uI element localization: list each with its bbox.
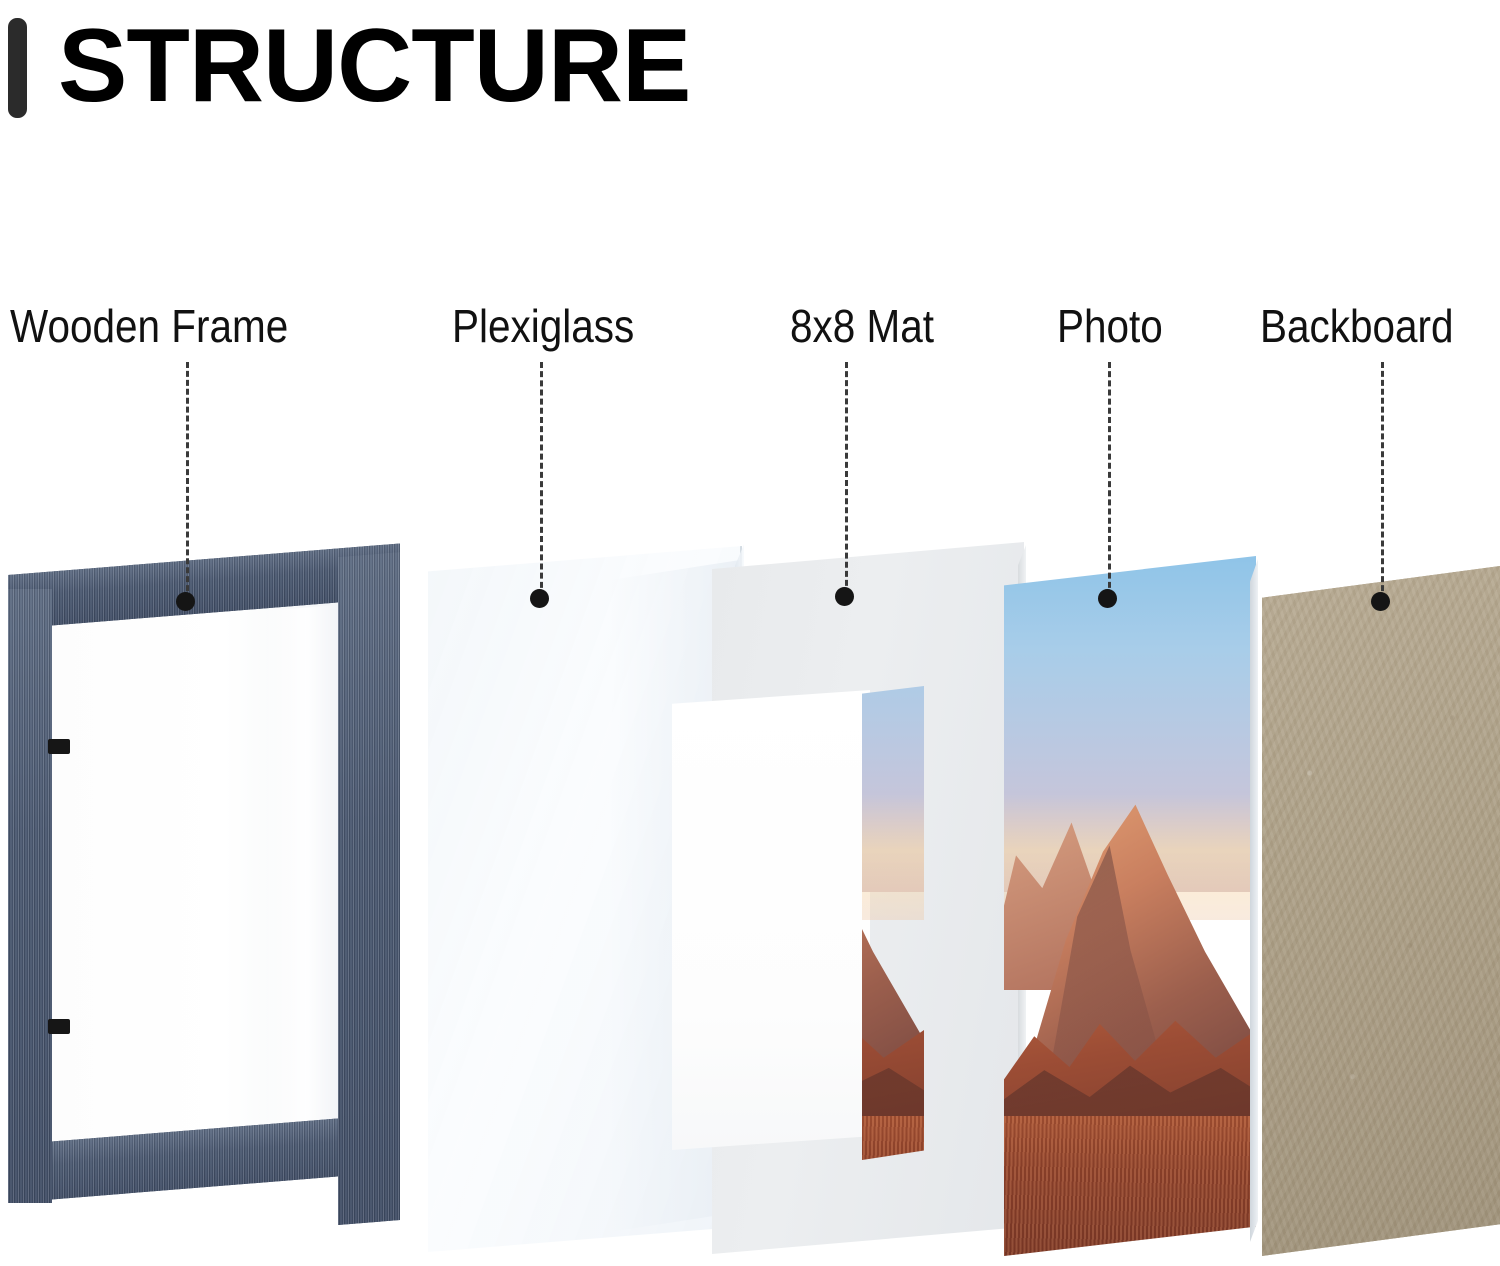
layer-label-wooden-frame: Wooden Frame [10, 300, 288, 352]
layer-label-mat: 8x8 Mat [790, 300, 934, 352]
layer-photo [1004, 556, 1256, 1256]
layer-label-photo: Photo [1057, 300, 1163, 352]
frame-right-rail [338, 552, 400, 1225]
leader-dot-photo [1098, 589, 1117, 608]
layer-label-plexiglass: Plexiglass [452, 300, 634, 352]
photo-haze-reveal [862, 794, 924, 920]
photo-right-edge [1250, 552, 1258, 1256]
mat-window-opening [672, 690, 870, 1150]
leader-dot-backboard [1371, 592, 1390, 611]
exploded-diagram: Wooden Frame Plexiglass 8x8 Mat Photo Ba… [0, 0, 1500, 1266]
leader-line-plexiglass [540, 362, 543, 597]
frame-left-rail [8, 589, 52, 1203]
layer-label-backboard: Backboard [1260, 300, 1454, 352]
leader-line-photo [1108, 362, 1111, 597]
photo-plain-grain [1004, 1116, 1256, 1256]
frame-inner-sheen [263, 605, 341, 1181]
leader-line-wooden-frame [186, 362, 189, 600]
leader-dot-mat [835, 587, 854, 606]
backboard-texture [1262, 566, 1500, 1256]
frame-clip-upper [48, 739, 70, 754]
leader-dot-plexiglass [530, 589, 549, 608]
leader-line-backboard [1381, 362, 1384, 600]
frame-clip-lower [48, 1019, 70, 1034]
layer-wooden-frame [8, 545, 416, 1245]
mat-window-photo-reveal [862, 686, 924, 1160]
leader-dot-wooden-frame [176, 592, 195, 611]
leader-line-mat [845, 362, 848, 595]
